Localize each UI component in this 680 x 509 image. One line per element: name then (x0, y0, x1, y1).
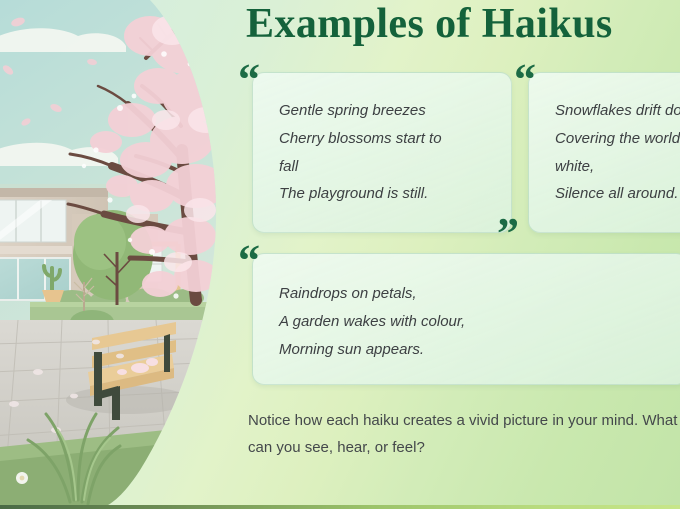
haiku-card-1: Gentle spring breezes Cherry blossoms st… (252, 72, 512, 233)
haiku-card-2: Snowflakes drift down, Covering the worl… (528, 72, 680, 233)
haiku-text-2: Snowflakes drift down, Covering the worl… (555, 97, 680, 208)
close-quote-icon-1: ” (497, 212, 519, 256)
open-quote-icon-1: “ (238, 58, 260, 102)
notice-paragraph: Notice how each haiku creates a vivid pi… (248, 408, 680, 461)
haiku-card-3: Raindrops on petals, A garden wakes with… (252, 253, 680, 385)
page-title: Examples of Haikus (246, 0, 680, 51)
bottom-accent-bar (0, 505, 680, 509)
haiku-text-1: Gentle spring breezes Cherry blossoms st… (279, 97, 493, 208)
cherry-blossom-schoolyard-illustration (0, 0, 224, 509)
haiku-text-3: Raindrops on petals, A garden wakes with… (279, 280, 669, 363)
open-quote-icon-2: “ (514, 58, 536, 102)
open-quote-icon-3: “ (238, 239, 260, 283)
slide-root: Examples of Haikus “ ” “ “ Gentle spring… (0, 0, 680, 509)
illustration-svg (0, 0, 224, 509)
